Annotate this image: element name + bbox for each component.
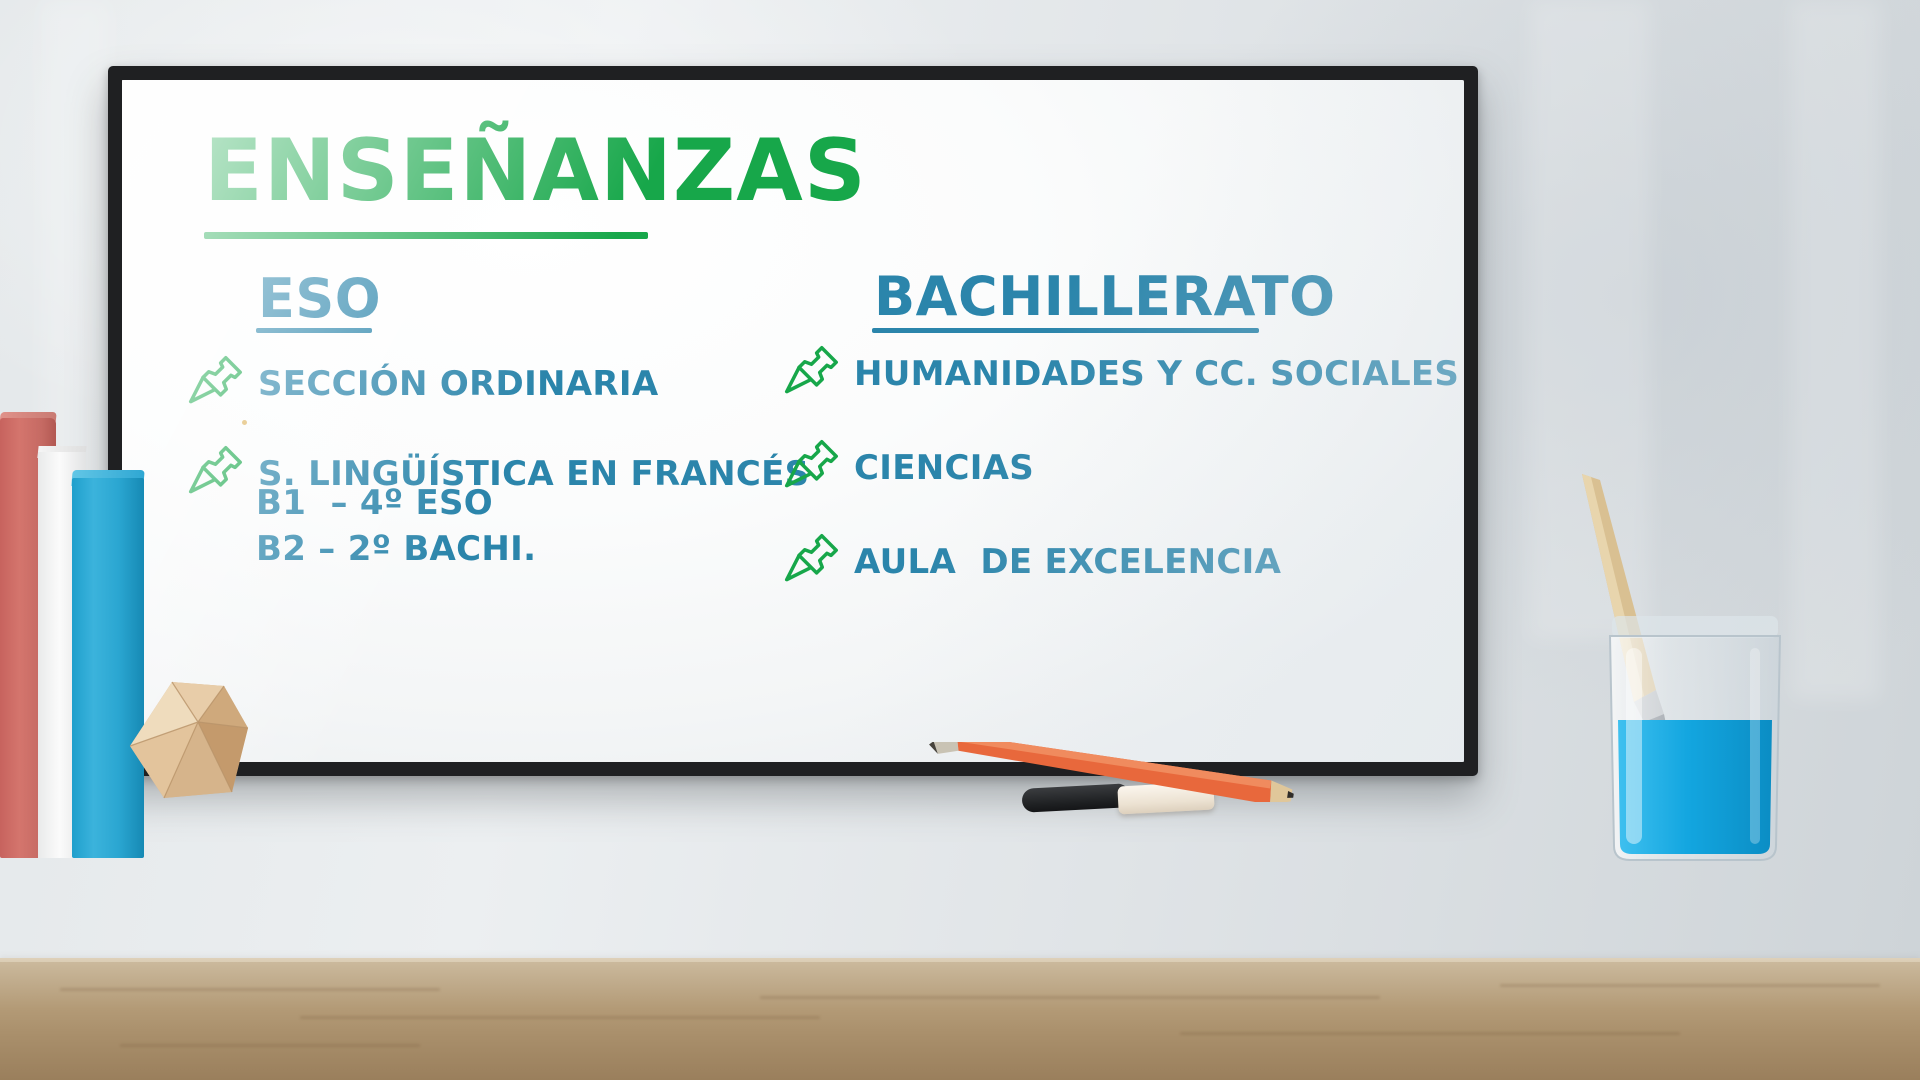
glass-jar [1600, 608, 1790, 868]
marker-speck [242, 420, 247, 425]
list-item-label: CIENCIAS [854, 432, 1034, 492]
classroom-scene: ENSEÑANZAS ESO BACHILLERATO SECCIÓN ORD [0, 0, 1920, 1080]
pushpin-icon [184, 438, 250, 504]
list-item-subline: B2 – 2º BACHI. [256, 526, 536, 574]
wooden-polyhedron [120, 672, 270, 832]
whiteboard-surface: ENSEÑANZAS ESO BACHILLERATO SECCIÓN ORD [122, 80, 1464, 762]
column-heading-eso: ESO [258, 272, 381, 326]
pencil [925, 742, 1295, 802]
whiteboard-frame: ENSEÑANZAS ESO BACHILLERATO SECCIÓN ORD [108, 66, 1478, 776]
whiteboard-content: ENSEÑANZAS ESO BACHILLERATO SECCIÓN ORD [122, 80, 1464, 762]
column-heading-bachillerato-underline [872, 328, 1259, 333]
list-item: SECCIÓN ORDINARIA [184, 348, 658, 414]
list-item: HUMANIDADES Y CC. SOCIALES [780, 338, 1459, 404]
pushpin-icon [780, 432, 846, 498]
pushpin-icon [780, 526, 846, 592]
list-item-subline: B1 – 4º ESO [256, 480, 493, 528]
shelf [0, 962, 1920, 1080]
column-heading-bachillerato: BACHILLERATO [874, 270, 1336, 324]
list-item-label: SECCIÓN ORDINARIA [258, 348, 658, 408]
pushpin-icon [184, 348, 250, 414]
pushpin-icon [780, 338, 846, 404]
column-heading-eso-underline [256, 328, 372, 333]
list-item-label: HUMANIDADES Y CC. SOCIALES [854, 338, 1459, 398]
list-item: CIENCIAS [780, 432, 1034, 498]
list-item-label: AULA DE EXCELENCIA [854, 526, 1281, 586]
wall-streak [1790, 0, 1880, 700]
title-underline [204, 232, 648, 239]
page-title: ENSEÑANZAS [204, 128, 867, 214]
list-item: AULA DE EXCELENCIA [780, 526, 1281, 592]
